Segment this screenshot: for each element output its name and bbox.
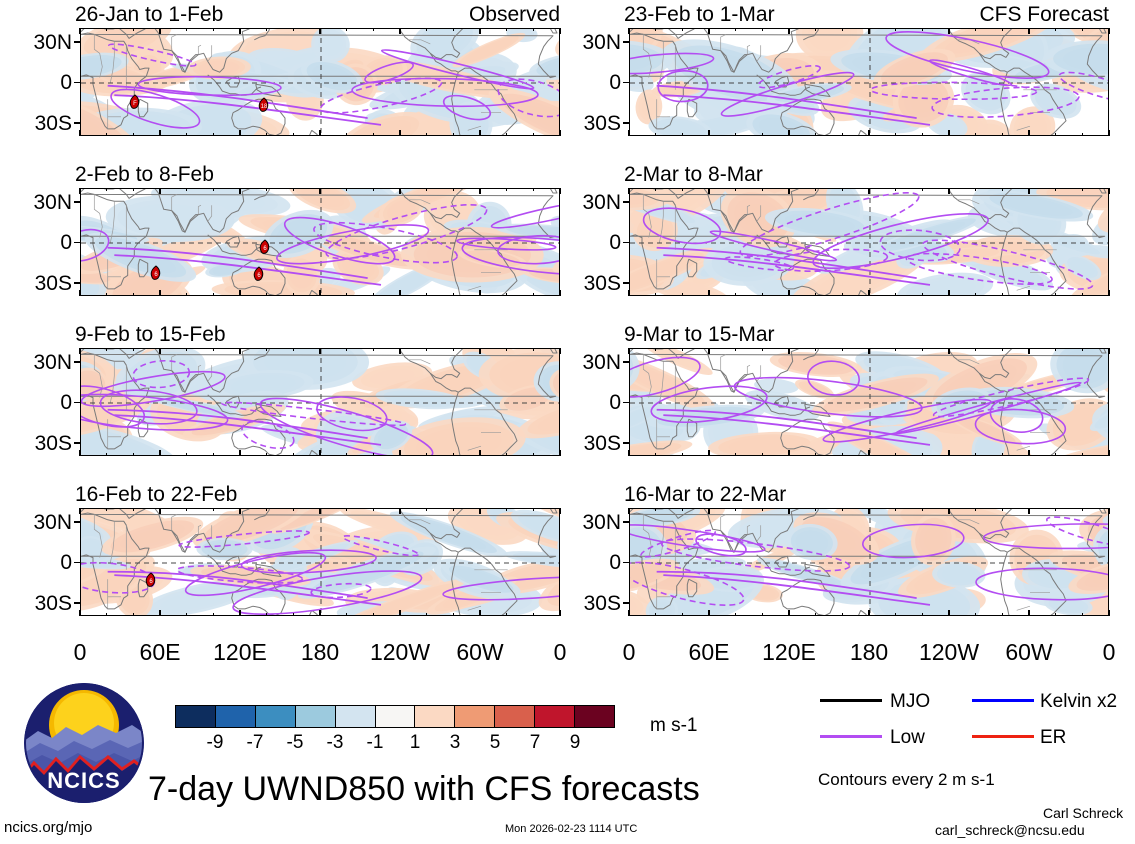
map-plot-area	[629, 348, 1109, 456]
y-axis-tick	[623, 562, 630, 564]
x-axis-tick	[1055, 188, 1057, 191]
x-axis-tick	[922, 453, 924, 456]
x-axis-tick-label: 120E	[200, 641, 280, 664]
x-axis-tick	[266, 188, 268, 191]
x-axis-tick	[399, 290, 401, 296]
x-axis-tick	[1108, 450, 1110, 456]
y-axis-tick-label: 0	[2, 392, 72, 413]
colorbar-tick-label: -1	[355, 733, 395, 752]
x-axis-tick	[922, 613, 924, 616]
x-axis-tick	[948, 508, 950, 514]
x-axis-tick	[895, 293, 897, 296]
x-axis-tick	[868, 610, 870, 616]
x-axis-tick	[735, 188, 737, 191]
y-axis-tick	[623, 602, 630, 604]
x-axis-tick	[1082, 613, 1084, 616]
x-axis-tick	[762, 348, 764, 351]
x-axis-tick	[533, 188, 535, 191]
x-axis-tick	[559, 130, 561, 136]
x-axis-tick	[682, 613, 684, 616]
x-axis-tick	[79, 130, 81, 136]
panel-title: 2-Mar to 8-Mar	[624, 164, 763, 185]
x-axis-tick	[346, 508, 348, 511]
author-email: carl_schreck@ncsu.edu	[935, 822, 1085, 838]
y-axis-tick-label: 0	[551, 552, 621, 573]
x-axis-tick	[895, 348, 897, 351]
x-axis-tick	[975, 293, 977, 296]
x-axis-tick	[975, 453, 977, 456]
x-axis-tick	[479, 290, 481, 296]
x-axis-tick	[868, 130, 870, 136]
x-axis-tick	[399, 188, 401, 194]
x-axis-tick	[762, 188, 764, 191]
storm-marker: 6	[149, 265, 163, 281]
x-axis-tick	[453, 133, 455, 136]
x-axis-tick	[922, 28, 924, 31]
x-axis-tick	[975, 28, 977, 31]
storm-marker: F	[128, 94, 142, 110]
x-axis-tick	[106, 348, 108, 351]
x-axis-tick	[213, 348, 215, 351]
x-axis-tick	[106, 133, 108, 136]
x-axis-tick	[186, 453, 188, 456]
y-axis-tick	[74, 242, 81, 244]
colorbar-swatch	[216, 706, 256, 727]
x-axis-tick	[815, 293, 817, 296]
x-axis-tick	[1108, 130, 1110, 136]
x-axis-tick	[453, 613, 455, 616]
x-axis-tick	[559, 508, 561, 514]
x-axis-tick	[426, 348, 428, 351]
x-axis-tick-label: 60W	[440, 641, 520, 664]
y-axis-tick	[623, 82, 630, 84]
x-axis-tick	[895, 508, 897, 511]
x-axis-tick	[346, 453, 348, 456]
y-axis-tick-label: 30S	[2, 273, 72, 294]
colorbar-tick-label: 9	[555, 733, 595, 752]
x-axis-tick	[559, 290, 561, 296]
y-axis-tick	[74, 521, 81, 523]
x-axis-tick	[239, 348, 241, 354]
x-axis-tick	[319, 348, 321, 354]
x-axis-tick-label: 60W	[989, 641, 1069, 664]
x-axis-tick	[319, 610, 321, 616]
x-axis-tick	[1082, 453, 1084, 456]
map-plot-area	[629, 28, 1109, 136]
x-axis-tick	[213, 453, 215, 456]
x-axis-tick	[133, 28, 135, 31]
x-axis-tick	[293, 613, 295, 616]
x-axis-tick	[213, 508, 215, 511]
x-axis-tick	[788, 348, 790, 354]
x-axis-tick	[186, 508, 188, 511]
colorbar-swatch	[296, 706, 336, 727]
x-axis-tick	[239, 290, 241, 296]
x-axis-tick	[868, 290, 870, 296]
x-axis-tick	[266, 613, 268, 616]
x-axis-tick	[399, 28, 401, 34]
colorbar-tick-label: -7	[235, 733, 275, 752]
colorbar-swatch	[336, 706, 376, 727]
x-axis-tick	[655, 133, 657, 136]
map-plot-area	[629, 188, 1109, 296]
x-axis-tick	[868, 28, 870, 34]
column-header: Observed	[400, 4, 560, 25]
x-axis-tick	[1055, 28, 1057, 31]
map-plot-area	[80, 508, 560, 616]
x-axis-tick	[628, 188, 630, 194]
y-axis-tick	[623, 242, 630, 244]
x-axis-tick	[655, 508, 657, 511]
x-axis-tick	[762, 293, 764, 296]
x-axis-tick	[426, 293, 428, 296]
x-axis-tick	[106, 188, 108, 191]
y-axis-tick-label: 30N	[2, 352, 72, 373]
x-axis-tick	[708, 28, 710, 34]
y-axis-tick-label: 30N	[551, 352, 621, 373]
x-axis-tick	[708, 290, 710, 296]
x-axis-tick-label: 0	[520, 641, 600, 664]
x-axis-tick	[1108, 290, 1110, 296]
x-axis-tick	[159, 508, 161, 514]
x-axis-tick	[133, 613, 135, 616]
x-axis-tick	[1002, 188, 1004, 191]
y-axis-tick-label: 30N	[2, 192, 72, 213]
x-axis-tick	[655, 613, 657, 616]
x-axis-tick	[682, 28, 684, 31]
x-axis-tick	[533, 453, 535, 456]
y-axis-tick	[74, 361, 81, 363]
x-axis-tick	[1082, 188, 1084, 191]
x-axis-tick	[293, 508, 295, 511]
x-axis-tick	[106, 293, 108, 296]
x-axis-tick	[1002, 293, 1004, 296]
x-axis-tick	[453, 188, 455, 191]
x-axis-tick-label: 180	[280, 641, 360, 664]
x-axis-tick	[1028, 28, 1030, 34]
x-axis-tick	[559, 188, 561, 194]
x-axis-tick	[506, 613, 508, 616]
x-axis-tick	[533, 613, 535, 616]
y-axis-tick	[623, 41, 630, 43]
colorbar-swatch	[376, 706, 416, 727]
x-axis-tick	[948, 290, 950, 296]
x-axis-tick	[373, 28, 375, 31]
x-axis-tick	[293, 28, 295, 31]
x-axis-tick	[895, 453, 897, 456]
x-axis-tick	[788, 28, 790, 34]
x-axis-tick	[628, 610, 630, 616]
x-axis-tick	[106, 613, 108, 616]
x-axis-tick	[346, 133, 348, 136]
x-axis-tick	[948, 130, 950, 136]
x-axis-tick	[239, 508, 241, 514]
x-axis-tick	[788, 450, 790, 456]
x-axis-tick-label: 0	[40, 641, 120, 664]
x-axis-tick	[293, 133, 295, 136]
x-axis-tick	[1002, 133, 1004, 136]
x-axis-tick	[895, 133, 897, 136]
x-axis-tick	[533, 293, 535, 296]
x-axis-tick	[735, 508, 737, 511]
x-axis-tick	[868, 348, 870, 354]
y-axis-tick	[74, 201, 81, 203]
x-axis-tick	[373, 453, 375, 456]
x-axis-tick	[186, 613, 188, 616]
x-axis-tick	[708, 508, 710, 514]
x-axis-tick	[266, 453, 268, 456]
x-axis-tick	[948, 610, 950, 616]
x-axis-tick	[373, 293, 375, 296]
x-axis-tick	[762, 508, 764, 511]
x-axis-tick	[682, 508, 684, 511]
x-axis-tick	[506, 133, 508, 136]
x-axis-tick	[1002, 508, 1004, 511]
x-axis-tick	[293, 293, 295, 296]
x-axis-tick	[133, 453, 135, 456]
x-axis-tick	[735, 613, 737, 616]
x-axis-tick	[842, 508, 844, 511]
x-axis-tick	[842, 453, 844, 456]
legend-line-swatch	[972, 735, 1034, 738]
svg-text:18: 18	[261, 104, 268, 110]
x-axis-tick	[79, 610, 81, 616]
y-axis-tick-label: 30S	[551, 113, 621, 134]
svg-text:F: F	[133, 101, 137, 107]
x-axis-tick	[293, 453, 295, 456]
svg-text:NCICS: NCICS	[47, 768, 120, 793]
storm-marker: 6	[258, 239, 272, 255]
colorbar-tick-label: -9	[195, 733, 235, 752]
x-axis-tick	[682, 348, 684, 351]
map-plot-area	[80, 28, 560, 136]
x-axis-tick	[1002, 453, 1004, 456]
x-axis-tick	[319, 188, 321, 194]
x-axis-tick	[1002, 348, 1004, 351]
x-axis-tick	[133, 133, 135, 136]
x-axis-tick	[922, 348, 924, 351]
panel-title: 2-Feb to 8-Feb	[75, 164, 214, 185]
x-axis-tick	[373, 133, 375, 136]
x-axis-tick	[453, 508, 455, 511]
x-axis-tick	[948, 188, 950, 194]
x-axis-tick	[948, 348, 950, 354]
y-axis-tick	[623, 201, 630, 203]
y-axis-tick	[74, 82, 81, 84]
x-axis-tick	[682, 133, 684, 136]
x-axis-tick	[975, 348, 977, 351]
x-axis-tick	[1002, 613, 1004, 616]
y-axis-tick-label: 0	[551, 232, 621, 253]
y-axis-tick	[623, 402, 630, 404]
x-axis-tick	[399, 130, 401, 136]
y-axis-tick	[74, 122, 81, 124]
y-axis-tick	[74, 442, 81, 444]
x-axis-tick	[975, 613, 977, 616]
x-axis-tick	[213, 293, 215, 296]
x-axis-tick	[682, 188, 684, 191]
x-axis-tick	[133, 348, 135, 351]
y-axis-tick-label: 0	[2, 552, 72, 573]
x-axis-tick	[533, 133, 535, 136]
x-axis-tick	[266, 133, 268, 136]
x-axis-tick	[1028, 130, 1030, 136]
x-axis-tick	[426, 613, 428, 616]
x-axis-tick	[399, 508, 401, 514]
x-axis-tick	[868, 450, 870, 456]
colorbar-tick-label: -3	[315, 733, 355, 752]
y-axis-tick	[74, 602, 81, 604]
x-axis-tick	[186, 188, 188, 191]
x-axis-tick	[815, 133, 817, 136]
x-axis-tick	[1055, 293, 1057, 296]
x-axis-tick	[479, 130, 481, 136]
legend-label: MJO	[890, 692, 930, 711]
y-axis-tick	[74, 402, 81, 404]
x-axis-tick	[842, 293, 844, 296]
ncics-logo: NCICS	[24, 683, 144, 803]
x-axis-tick	[1028, 610, 1030, 616]
x-axis-tick	[426, 508, 428, 511]
x-axis-tick	[186, 348, 188, 351]
x-axis-tick	[106, 508, 108, 511]
x-axis-tick	[79, 450, 81, 456]
x-axis-tick	[655, 28, 657, 31]
x-axis-tick	[815, 28, 817, 31]
x-axis-tick	[159, 450, 161, 456]
x-axis-tick	[346, 188, 348, 191]
panel-title: 23-Feb to 1-Mar	[624, 4, 775, 25]
x-axis-tick	[762, 453, 764, 456]
storm-marker: 6	[252, 266, 266, 282]
x-axis-tick	[1108, 28, 1110, 34]
x-axis-tick	[735, 28, 737, 31]
x-axis-tick-label: 60E	[120, 641, 200, 664]
x-axis-tick	[735, 453, 737, 456]
x-axis-tick	[159, 28, 161, 34]
x-axis-tick	[895, 28, 897, 31]
y-axis-tick	[74, 282, 81, 284]
site-url: ncics.org/mjo	[4, 820, 92, 836]
colorbar-tick-label: 1	[395, 733, 435, 752]
x-axis-tick	[655, 293, 657, 296]
y-axis-tick	[74, 41, 81, 43]
x-axis-tick	[1028, 348, 1030, 354]
y-axis-tick-label: 30S	[551, 433, 621, 454]
y-axis-tick-label: 0	[2, 72, 72, 93]
x-axis-tick	[373, 613, 375, 616]
timestamp: Mon 2026-02-23 1114 UTC	[505, 823, 637, 835]
x-axis-tick	[1028, 450, 1030, 456]
x-axis-tick	[79, 348, 81, 354]
x-axis-tick	[453, 453, 455, 456]
x-axis-tick	[346, 28, 348, 31]
x-axis-tick	[708, 610, 710, 616]
x-axis-tick	[453, 348, 455, 351]
x-axis-tick-label: 120W	[909, 641, 989, 664]
x-axis-tick	[213, 133, 215, 136]
x-axis-tick	[1082, 293, 1084, 296]
y-axis-tick-label: 30N	[551, 512, 621, 533]
x-axis-tick	[628, 348, 630, 354]
x-axis-tick	[266, 348, 268, 351]
x-axis-tick	[842, 28, 844, 31]
x-axis-tick	[346, 348, 348, 351]
x-axis-tick	[1108, 188, 1110, 194]
x-axis-tick	[975, 133, 977, 136]
x-axis-tick	[239, 188, 241, 194]
x-axis-tick	[1028, 290, 1030, 296]
x-axis-tick	[319, 508, 321, 514]
x-axis-tick	[1055, 133, 1057, 136]
x-axis-tick	[735, 293, 737, 296]
x-axis-tick	[533, 348, 535, 351]
x-axis-tick	[559, 610, 561, 616]
x-axis-tick	[426, 453, 428, 456]
x-axis-tick-label: 120E	[749, 641, 829, 664]
colorbar-swatch	[256, 706, 296, 727]
x-axis-tick	[506, 453, 508, 456]
x-axis-tick	[788, 130, 790, 136]
x-axis-tick	[159, 188, 161, 194]
x-axis-tick	[788, 188, 790, 194]
x-axis-tick	[239, 28, 241, 34]
legend-label: ER	[1040, 728, 1066, 747]
x-axis-tick	[533, 28, 535, 31]
x-axis-tick	[533, 508, 535, 511]
x-axis-tick	[1082, 508, 1084, 511]
x-axis-tick	[762, 28, 764, 31]
x-axis-tick-label: 0	[1069, 641, 1135, 664]
x-axis-tick	[682, 293, 684, 296]
x-axis-tick	[479, 610, 481, 616]
x-axis-tick	[506, 293, 508, 296]
x-axis-tick	[506, 28, 508, 31]
x-axis-tick	[1082, 133, 1084, 136]
x-axis-tick	[239, 130, 241, 136]
y-axis-tick-label: 30N	[551, 32, 621, 53]
x-axis-tick	[159, 290, 161, 296]
x-axis-tick	[1082, 348, 1084, 351]
x-axis-tick	[373, 188, 375, 191]
x-axis-tick	[922, 133, 924, 136]
x-axis-tick	[1108, 610, 1110, 616]
map-plot-area	[629, 508, 1109, 616]
x-axis-tick	[373, 508, 375, 511]
panel-title: 9-Feb to 15-Feb	[75, 324, 226, 345]
x-axis-tick	[815, 508, 817, 511]
y-axis-tick-label: 30N	[2, 512, 72, 533]
x-axis-tick	[895, 188, 897, 191]
x-axis-tick	[762, 133, 764, 136]
legend-label: Low	[890, 728, 925, 747]
x-axis-tick	[655, 453, 657, 456]
x-axis-tick	[479, 28, 481, 34]
x-axis-tick	[762, 613, 764, 616]
x-axis-tick	[815, 613, 817, 616]
panel-title: 16-Feb to 22-Feb	[75, 484, 237, 505]
x-axis-tick	[373, 348, 375, 351]
author-name: Carl Schreck	[1043, 805, 1123, 821]
x-axis-tick	[479, 508, 481, 514]
x-axis-tick	[815, 348, 817, 351]
colorbar-tick-label: 5	[475, 733, 515, 752]
x-axis-tick	[1055, 508, 1057, 511]
x-axis-tick	[895, 613, 897, 616]
legend-line-swatch	[820, 699, 882, 702]
y-axis-tick-label: 30N	[551, 192, 621, 213]
y-axis-tick	[623, 521, 630, 523]
